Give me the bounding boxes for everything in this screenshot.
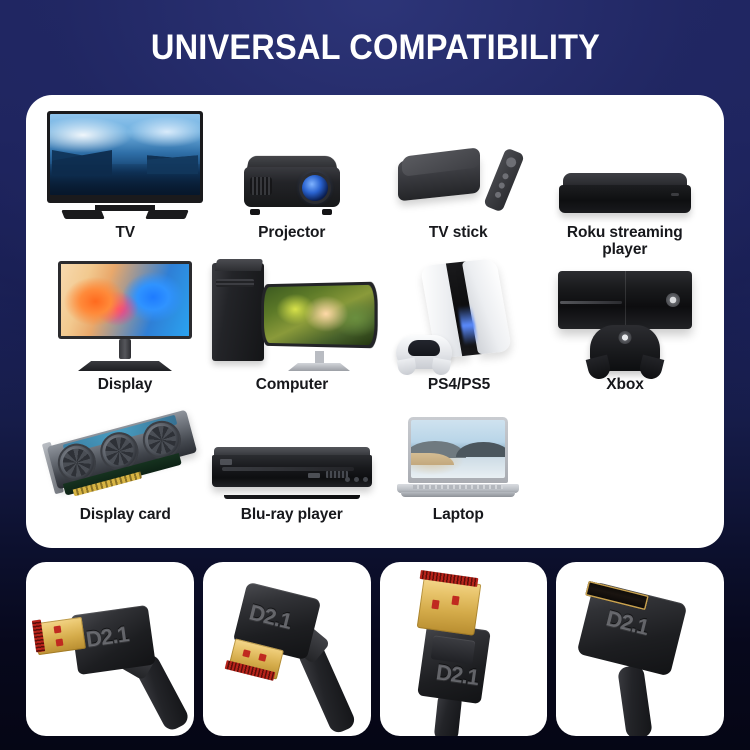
device-cell-display: Display (42, 259, 208, 411)
device-label: Projector (258, 224, 325, 241)
device-label-line-1: Roku streaming (567, 224, 683, 241)
monitor-icon (58, 259, 192, 371)
device-cell-laptop: Laptop (375, 411, 542, 537)
device-row: Display card (42, 411, 708, 537)
device-label: Xbox (606, 376, 644, 393)
roku-streaming-player-icon (559, 109, 691, 219)
device-row: TV Projector (42, 109, 708, 259)
device-cell-blu-ray: Blu-ray player (209, 411, 376, 537)
device-cell-display-card: Display card (42, 411, 209, 537)
connector-gallery: D2.1 D2.1 (26, 562, 724, 736)
device-cell-computer: Computer (208, 259, 376, 411)
playstation-console-icon (396, 259, 522, 371)
page-root: UNIVERSAL COMPATIBILITY TV (0, 0, 750, 750)
blu-ray-player-icon (212, 411, 372, 501)
displayport-female-socket: D2.1 (556, 562, 724, 736)
device-label: Display (98, 376, 152, 393)
connector-panel-straight-plug[interactable]: D2.1 (380, 562, 548, 736)
device-label: Laptop (433, 506, 484, 523)
angled-displayport-plug: D2.1 (203, 562, 371, 736)
desktop-computer-icon (208, 259, 376, 371)
connector-panel-right-angle-plug[interactable]: D2.1 (26, 562, 194, 736)
compatible-devices-card: TV Projector (26, 95, 724, 548)
device-label: TV (115, 224, 135, 241)
laptop-icon (397, 411, 519, 501)
device-label: TV stick (429, 224, 488, 241)
connector-panel-female-socket[interactable]: D2.1 (556, 562, 724, 736)
straight-displayport-plug: D2.1 (380, 562, 548, 736)
television-icon (47, 109, 203, 219)
device-cell-tv-stick: TV stick (375, 109, 542, 259)
device-label: Computer (256, 376, 328, 393)
device-cell-xbox: Xbox (542, 259, 708, 411)
device-label: Roku streaming player (567, 224, 683, 259)
device-label: Blu-ray player (241, 506, 343, 523)
graphics-card-icon (52, 411, 198, 501)
tv-stick-icon (398, 109, 518, 219)
xbox-console-icon (556, 259, 694, 371)
page-title: UNIVERSAL COMPATIBILITY (150, 28, 599, 68)
right-angle-displayport-plug: D2.1 (26, 562, 194, 736)
projector-icon (242, 109, 342, 219)
device-cell-projector: Projector (209, 109, 376, 259)
device-label-line-2: player (602, 241, 647, 258)
device-cell-playstation: PS4/PS5 (376, 259, 542, 411)
device-cell-empty (542, 411, 709, 537)
device-row: Display Computer (42, 259, 708, 411)
device-cell-tv: TV (42, 109, 209, 259)
connector-panel-angled-plug[interactable]: D2.1 (203, 562, 371, 736)
header-banner: UNIVERSAL COMPATIBILITY (0, 0, 750, 95)
device-cell-roku: Roku streaming player (542, 109, 709, 259)
device-label: PS4/PS5 (428, 376, 490, 393)
